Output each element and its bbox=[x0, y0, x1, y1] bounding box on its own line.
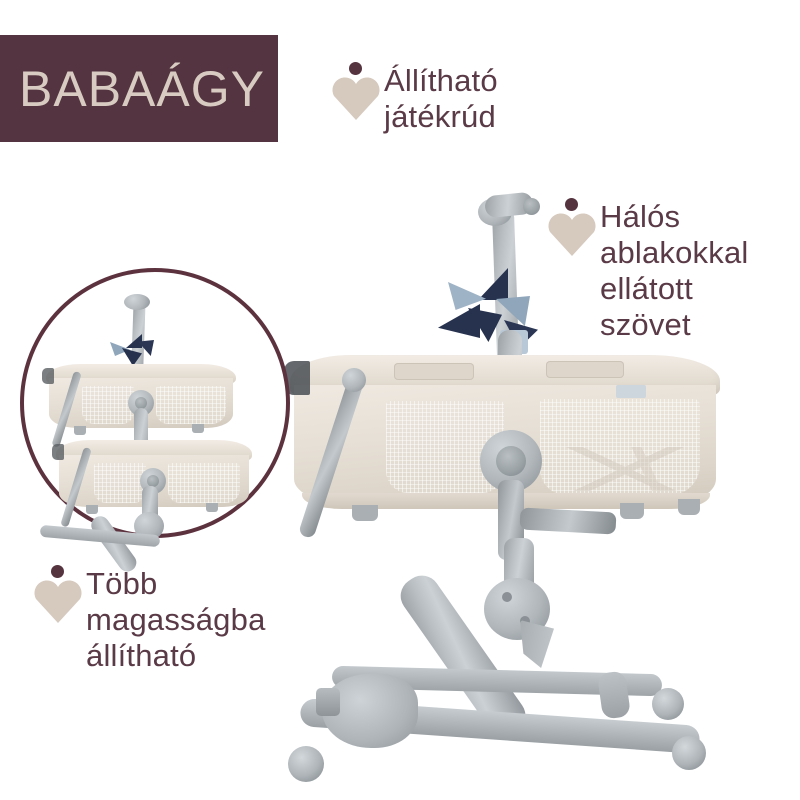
caster-wheel bbox=[672, 736, 706, 770]
heart-dot-icon bbox=[349, 62, 362, 75]
base-connector bbox=[316, 688, 340, 716]
title-banner: BABAÁGY bbox=[0, 35, 278, 142]
fabric-pattern bbox=[552, 447, 698, 491]
feature-callout-label: Állítható játékrúd bbox=[384, 62, 498, 135]
inset-endcap-upper bbox=[42, 368, 54, 384]
inset-stage bbox=[24, 272, 286, 534]
brand-tag bbox=[616, 385, 646, 398]
toy-bar-cap-end bbox=[523, 198, 540, 215]
feature-callout-multiple-heights: Több magasságba állítható bbox=[32, 565, 266, 674]
lower-bracket-arm bbox=[519, 508, 616, 535]
height-adjust-hub-inner bbox=[496, 446, 526, 476]
inset-foot-lower bbox=[86, 505, 98, 514]
inset-foot-upper bbox=[192, 424, 204, 433]
strut-pivot bbox=[342, 368, 366, 392]
inset-toy-bar-cap bbox=[124, 294, 150, 310]
inset-pinwheel-toy bbox=[110, 334, 154, 368]
bassinet-foot bbox=[678, 499, 700, 515]
heart-dot-icon bbox=[565, 198, 578, 211]
feature-callout-label: Hálós ablakokkal ellátott szövet bbox=[600, 198, 748, 343]
heart-pin-icon bbox=[546, 198, 600, 256]
pinwheel-blade bbox=[496, 296, 530, 326]
pinwheel-blade bbox=[478, 268, 508, 300]
inset-mesh-upper-right bbox=[156, 386, 226, 424]
inset-foot-upper bbox=[74, 426, 86, 435]
feature-callout-label: Több magasságba állítható bbox=[86, 565, 266, 674]
feature-callout-adjustable-toy-bar: Állítható játékrúd bbox=[330, 62, 498, 135]
pinwheel-blade bbox=[438, 304, 480, 338]
height-adjustment-inset bbox=[20, 268, 290, 538]
heart-dot-icon bbox=[51, 565, 64, 578]
velcro-strap bbox=[394, 363, 474, 380]
pinwheel-blade bbox=[448, 282, 486, 310]
caster-wheel bbox=[288, 746, 324, 782]
inset-mesh-lower-left bbox=[94, 463, 146, 503]
pinwheel-blade bbox=[126, 334, 142, 348]
knuckle-bolt bbox=[502, 592, 512, 602]
heart-icon bbox=[548, 212, 596, 256]
bassinet-foot bbox=[620, 503, 644, 519]
inset-foot-lower bbox=[206, 503, 218, 512]
caster-wheel bbox=[652, 688, 684, 720]
heart-icon bbox=[34, 579, 82, 623]
page-title: BABAÁGY bbox=[13, 64, 265, 114]
inset-mesh-lower-right bbox=[168, 463, 240, 503]
heart-icon bbox=[332, 76, 380, 120]
feature-callout-mesh-fabric: Hálós ablakokkal ellátott szövet bbox=[546, 198, 748, 343]
heart-pin-icon bbox=[32, 565, 86, 623]
velcro-strap bbox=[546, 361, 624, 378]
bassinet-foot bbox=[352, 505, 378, 521]
inset-mesh-upper-left bbox=[82, 386, 134, 424]
pinwheel-toy bbox=[438, 268, 543, 348]
base-frame bbox=[280, 660, 720, 790]
inset-endcap-lower bbox=[52, 444, 64, 460]
heart-pin-icon bbox=[330, 62, 384, 120]
promo-graphic: BABAÁGY bbox=[0, 0, 800, 800]
